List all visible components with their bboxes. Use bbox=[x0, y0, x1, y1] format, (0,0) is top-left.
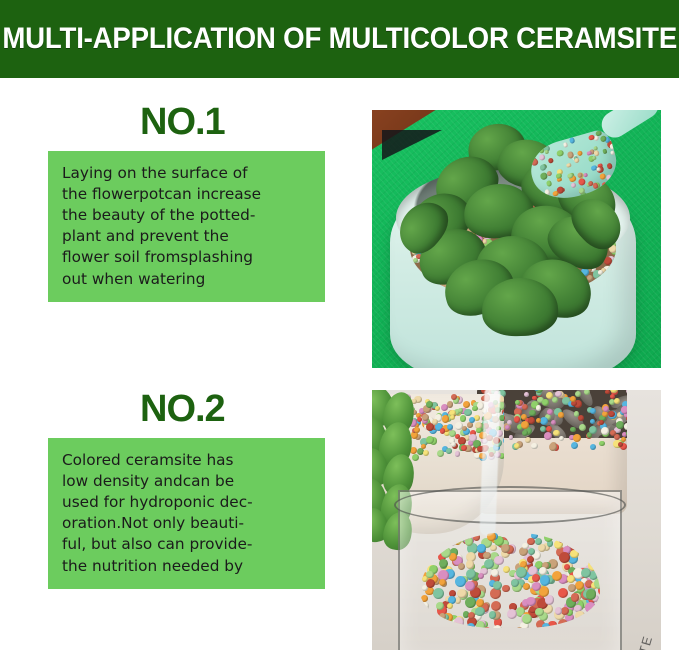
section-2-body: Colored ceramsite has low density andcan… bbox=[62, 450, 315, 577]
section-2-heading: NO.2 bbox=[0, 390, 360, 428]
photo-glass-vase: GALETTE bbox=[372, 390, 661, 650]
text-column: NO.1 Laying on the surface of the flower… bbox=[0, 78, 360, 658]
section-1-text-card: Laying on the surface of the flowerpotca… bbox=[48, 151, 325, 302]
section-1-heading: NO.1 bbox=[0, 103, 360, 141]
section-2-text-card: Colored ceramsite has low density andcan… bbox=[48, 438, 325, 589]
scoop-bowl bbox=[525, 127, 624, 206]
plastic-scoop bbox=[531, 110, 657, 200]
section-no-1: NO.1 Laying on the surface of the flower… bbox=[0, 103, 360, 302]
section-no-2: NO.2 Colored ceramsite has low density a… bbox=[0, 390, 360, 589]
glass-vase-rim bbox=[394, 486, 626, 524]
section-1-body: Laying on the surface of the flowerpotca… bbox=[62, 163, 315, 290]
header-banner: MULTI-APPLICATION OF MULTICOLOR CERAMSIT… bbox=[0, 0, 679, 78]
photo-potted-plant bbox=[372, 110, 661, 368]
page-title: MULTI-APPLICATION OF MULTICOLOR CERAMSIT… bbox=[2, 22, 677, 56]
